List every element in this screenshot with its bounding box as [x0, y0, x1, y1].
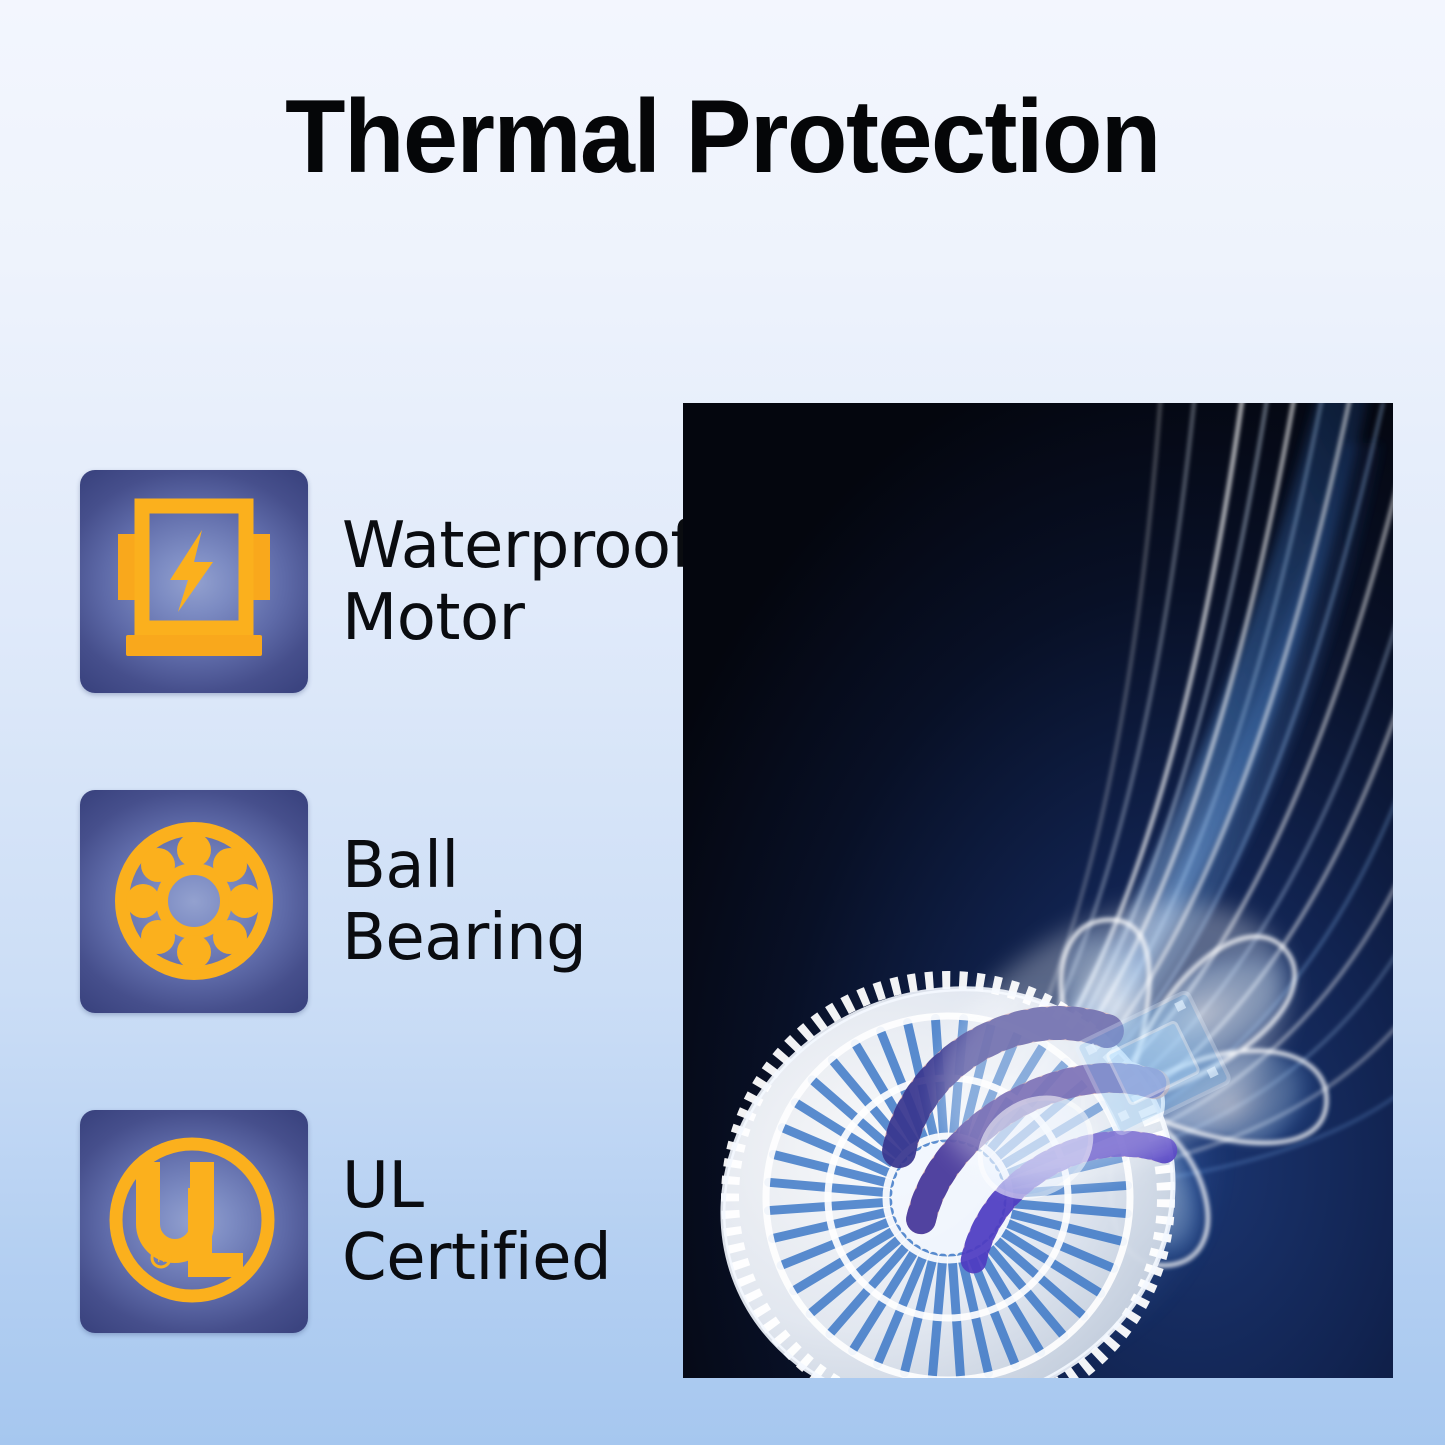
page-title: Thermal Protection	[36, 82, 1409, 192]
feature-label-ul-certified: UL Certified	[342, 1150, 611, 1294]
feature-label-line1: Waterproof	[342, 509, 693, 583]
ul-certified-icon: R	[80, 1110, 308, 1333]
svg-text:R: R	[157, 1252, 165, 1265]
feature-label-line2: Certified	[342, 1222, 611, 1294]
feature-label-line1: Ball	[342, 829, 459, 903]
waterproof-motor-icon	[80, 470, 308, 693]
feature-label-line1: UL	[342, 1149, 424, 1223]
feature-label-waterproof-motor: Waterproof Motor	[342, 510, 693, 654]
feature-list: Waterproof Motor	[80, 470, 670, 1333]
feature-label-line2: Bearing	[342, 902, 586, 974]
feature-label-line2: Motor	[342, 582, 693, 654]
feature-item-ball-bearing: Ball Bearing	[80, 790, 670, 1013]
infographic-page: Thermal Protection Waterp	[0, 0, 1445, 1445]
feature-label-ball-bearing: Ball Bearing	[342, 830, 586, 974]
ball-bearing-icon	[80, 790, 308, 1013]
feature-item-ul-certified: R UL Certified	[80, 1110, 670, 1333]
feature-item-waterproof-motor: Waterproof Motor	[80, 470, 670, 693]
product-image-panel	[683, 403, 1393, 1378]
